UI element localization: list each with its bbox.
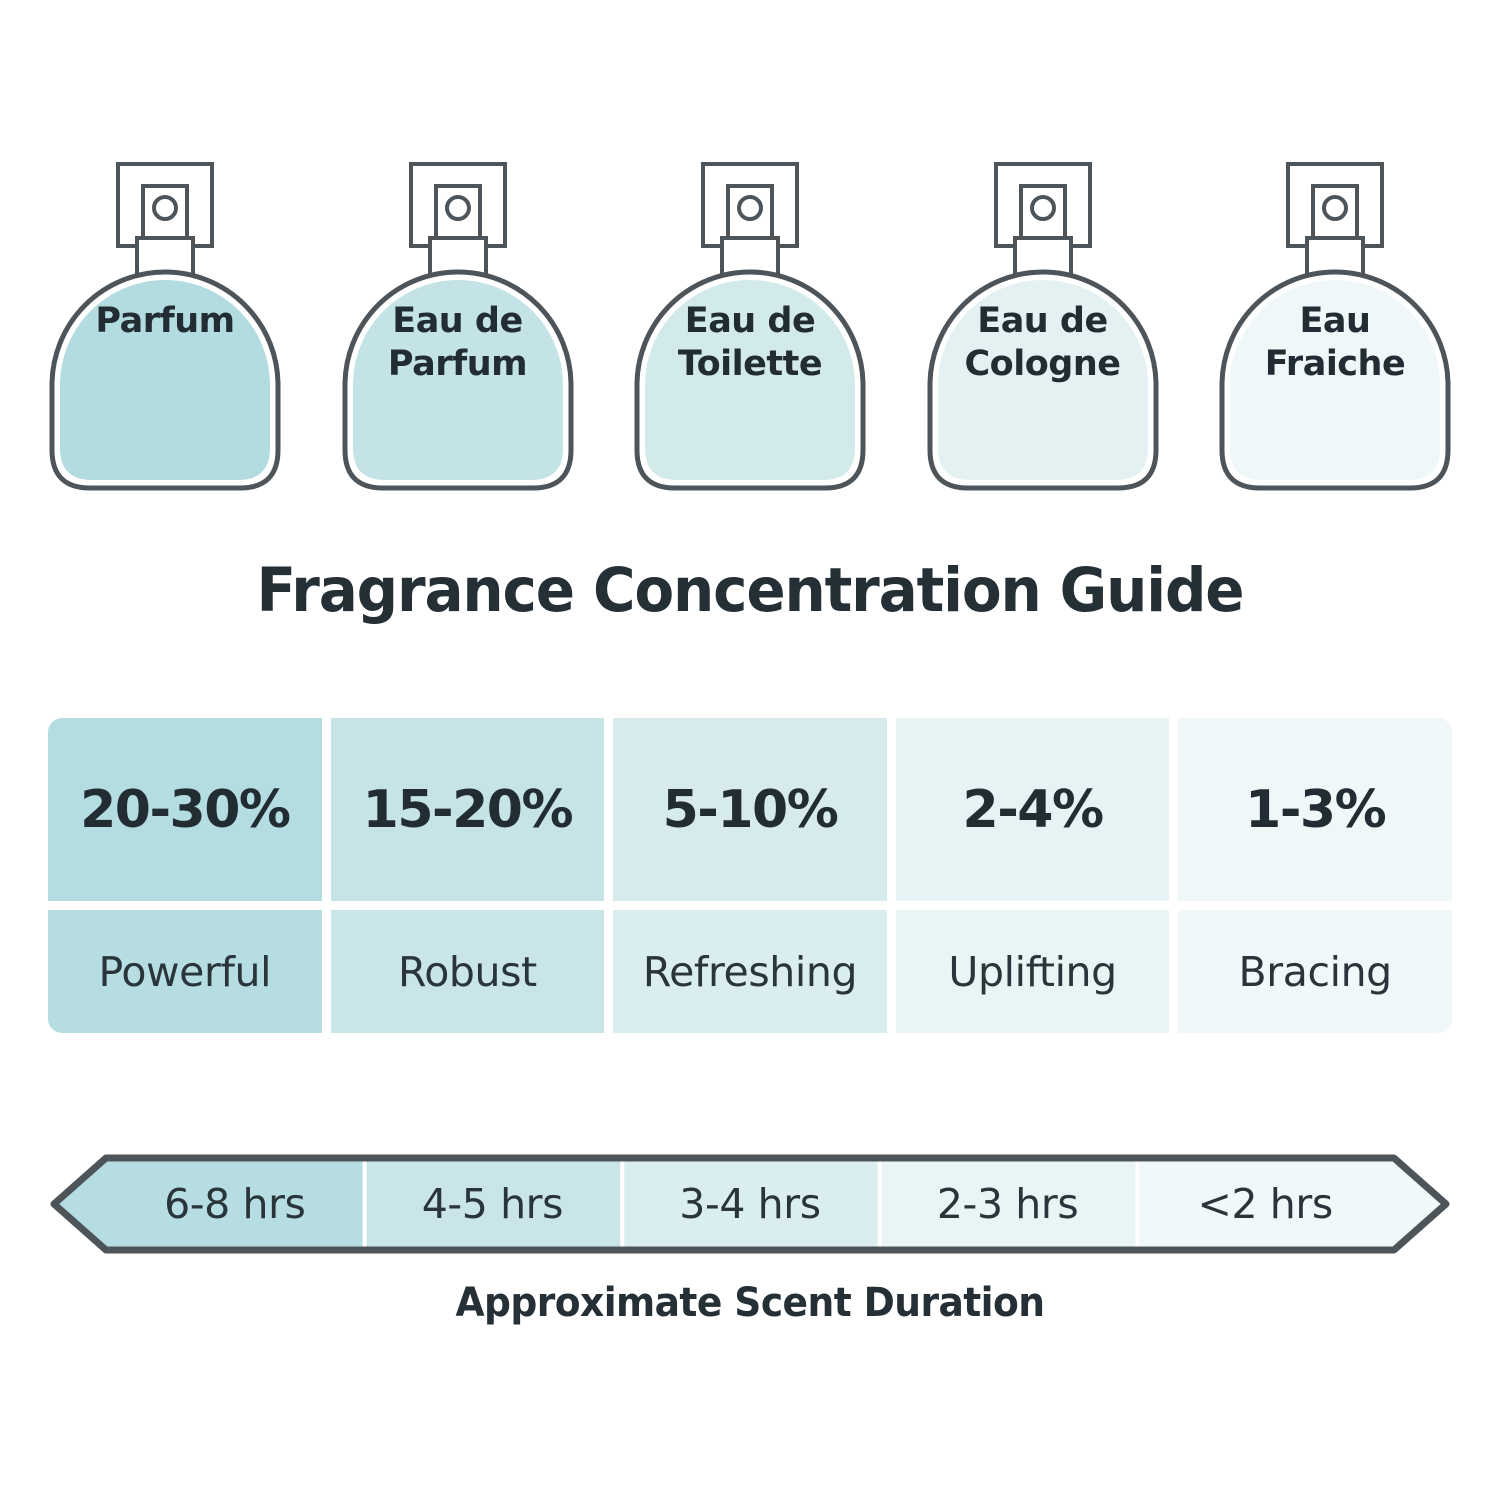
perfume-bottle-icon: [333, 150, 583, 500]
duration-value[interactable]: 6-8 hrs: [106, 1152, 364, 1256]
percent-value: 2-4%: [963, 780, 1103, 840]
perfume-bottle-icon: [1210, 150, 1460, 500]
table-cell-percent[interactable]: 1-3%: [1178, 718, 1452, 901]
table-cell-descriptor[interactable]: Refreshing: [613, 910, 887, 1033]
perfume-bottle-icon: [40, 150, 290, 500]
table-cell-percent[interactable]: 2-4%: [896, 718, 1170, 901]
concentration-percent-row: 20-30% 15-20% 5-10% 2-4% 1-3%: [48, 718, 1452, 901]
bottle-card-eau-de-toilette[interactable]: Eau de Toilette: [625, 150, 875, 500]
duration-caption: Approximate Scent Duration: [45, 1280, 1455, 1326]
bottle-card-eau-fraiche[interactable]: Eau Fraiche: [1210, 150, 1460, 500]
table-cell-descriptor[interactable]: Uplifting: [896, 910, 1170, 1033]
duration-value[interactable]: 4-5 hrs: [364, 1152, 622, 1256]
infographic-canvas: Parfum Eau de Parfum Eau de To: [0, 0, 1500, 1500]
concentration-descriptor-row: Powerful Robust Refreshing Uplifting Bra…: [48, 910, 1452, 1033]
descriptor-value: Powerful: [99, 948, 272, 996]
bottle-card-parfum[interactable]: Parfum: [40, 150, 290, 500]
table-cell-descriptor[interactable]: Bracing: [1178, 910, 1452, 1033]
table-cell-descriptor[interactable]: Powerful: [48, 910, 322, 1033]
percent-value: 5-10%: [663, 780, 838, 840]
table-cell-percent[interactable]: 15-20%: [331, 718, 605, 901]
table-cell-percent[interactable]: 20-30%: [48, 718, 322, 901]
bottle-card-eau-de-cologne[interactable]: Eau de Cologne: [918, 150, 1168, 500]
percent-value: 20-30%: [80, 780, 289, 840]
bottle-row: Parfum Eau de Parfum Eau de To: [40, 150, 1460, 510]
table-cell-percent[interactable]: 5-10%: [613, 718, 887, 901]
duration-label-row: 6-8 hrs 4-5 hrs 3-4 hrs 2-3 hrs <2 hrs: [106, 1152, 1394, 1256]
table-cell-descriptor[interactable]: Robust: [331, 910, 605, 1033]
perfume-bottle-icon: [918, 150, 1168, 500]
percent-value: 1-3%: [1245, 780, 1385, 840]
perfume-bottle-icon: [625, 150, 875, 500]
duration-value[interactable]: <2 hrs: [1136, 1152, 1394, 1256]
duration-bar: 6-8 hrs 4-5 hrs 3-4 hrs 2-3 hrs <2 hrs: [48, 1152, 1452, 1256]
descriptor-value: Uplifting: [948, 948, 1116, 996]
descriptor-value: Robust: [398, 948, 537, 996]
bottle-card-eau-de-parfum[interactable]: Eau de Parfum: [333, 150, 583, 500]
duration-value[interactable]: 3-4 hrs: [621, 1152, 879, 1256]
percent-value: 15-20%: [363, 780, 572, 840]
concentration-table: 20-30% 15-20% 5-10% 2-4% 1-3% Powerful R…: [48, 718, 1452, 1033]
descriptor-value: Refreshing: [643, 948, 857, 996]
duration-value[interactable]: 2-3 hrs: [879, 1152, 1137, 1256]
page-title: Fragrance Concentration Guide: [38, 555, 1463, 626]
descriptor-value: Bracing: [1239, 948, 1392, 996]
